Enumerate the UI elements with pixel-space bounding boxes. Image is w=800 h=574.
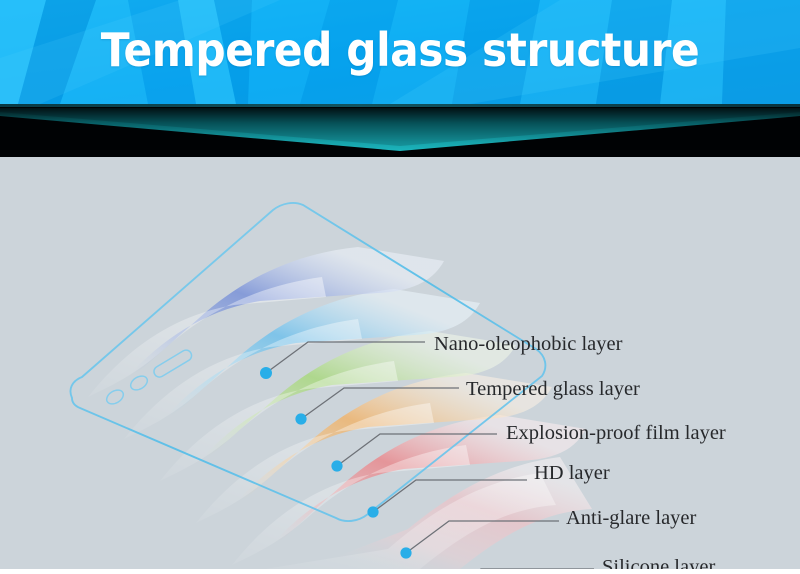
layer-label-explosion-proof-film: Explosion-proof film layer <box>506 423 726 444</box>
diagram-stage: Nano-oleophobic layer Tempered glass lay… <box>0 157 800 569</box>
dot-anti-glare <box>400 547 411 558</box>
dot-explosion <box>331 460 342 471</box>
dot-tempered <box>295 413 306 424</box>
tempered-glass-structure-infographic: Tempered glass structure <box>0 0 800 574</box>
page-title: Tempered glass structure <box>32 0 768 104</box>
layer-label-tempered-glass: Tempered glass layer <box>466 379 640 400</box>
dot-hd <box>367 506 378 517</box>
teal-chevron-graphic <box>0 104 800 157</box>
dot-nano <box>260 367 272 379</box>
header-banner: Tempered glass structure <box>0 0 800 104</box>
layer-label-silicone: Silicone layer <box>602 557 715 569</box>
divider-band <box>0 104 800 157</box>
layer-label-nano-oleophobic: Nano-oleophobic layer <box>434 334 622 355</box>
bottom-white-strip <box>0 569 800 574</box>
layer-label-hd: HD layer <box>534 463 610 484</box>
layer-label-anti-glare: Anti-glare layer <box>566 508 696 529</box>
